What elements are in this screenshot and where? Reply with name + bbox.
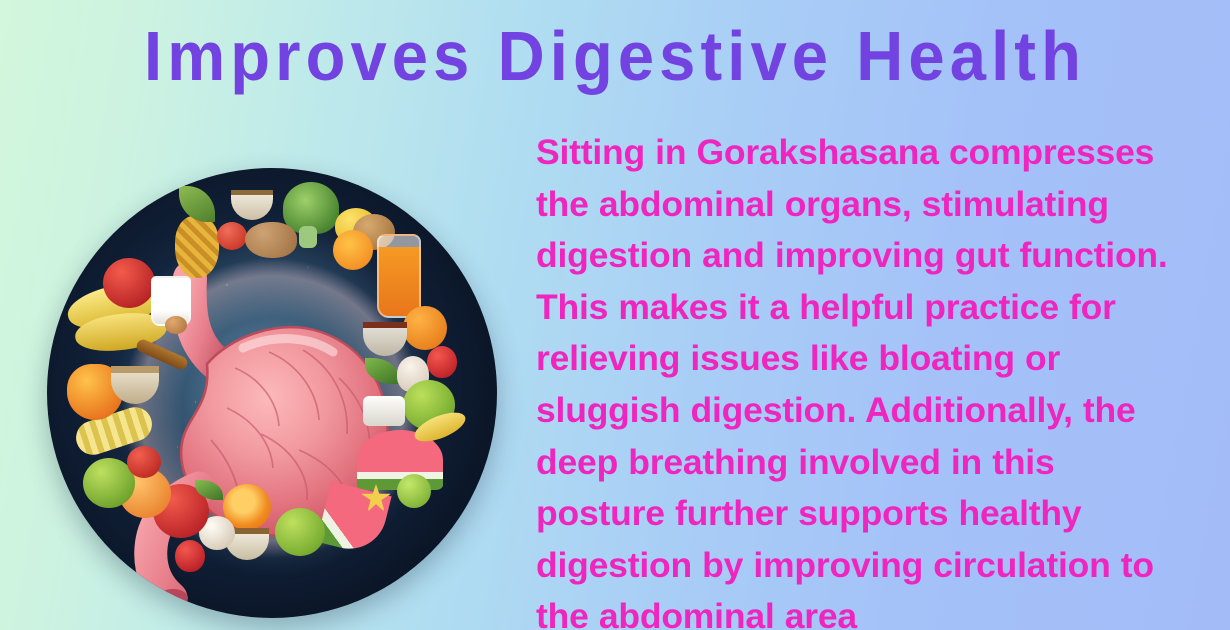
food-potato <box>245 222 297 258</box>
illustration-circle <box>47 168 497 618</box>
digestive-health-illustration <box>47 168 497 618</box>
food-pineapple <box>175 216 219 278</box>
body-paragraph: Sitting in Gorakshasana compresses the a… <box>536 127 1186 630</box>
food-orange-juice-bottle <box>377 234 421 318</box>
food-lime <box>397 474 431 508</box>
food-tomato-top <box>217 222 247 250</box>
infographic-slide: Improves Digestive Health <box>0 0 1230 630</box>
food-broccoli-stem <box>299 226 317 248</box>
food-tomato-left <box>127 446 161 478</box>
food-yogurt-cup-right <box>363 396 405 426</box>
food-green-apple-bottom <box>275 508 325 556</box>
food-nuts-left <box>165 316 187 334</box>
food-strawberry-bottom <box>175 540 205 572</box>
page-title: Improves Digestive Health <box>43 18 1187 94</box>
food-red-apple-left <box>103 258 155 308</box>
food-orange-slice <box>333 230 373 270</box>
food-orange <box>403 306 447 350</box>
food-strawberry-right <box>427 346 457 378</box>
